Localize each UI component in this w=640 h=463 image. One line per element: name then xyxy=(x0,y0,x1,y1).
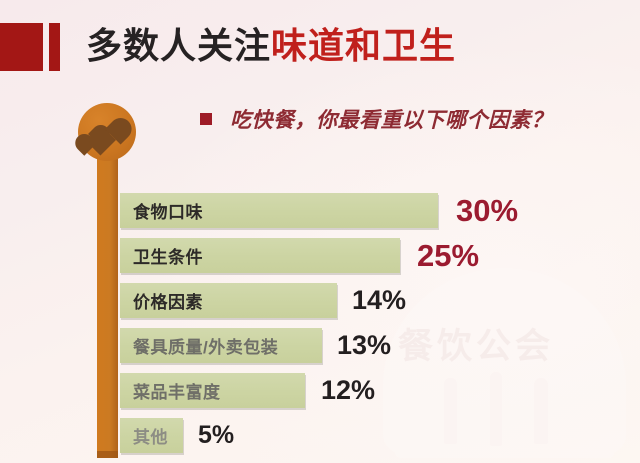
chart-row: 餐具质量/外卖包装 13% xyxy=(120,325,620,370)
chart-row: 卫生条件 25% xyxy=(120,235,620,280)
bar-label: 食物口味 xyxy=(133,198,203,223)
subtitle-text: 吃快餐，你最看重以下哪个因素？ xyxy=(230,104,553,134)
page-title-red: 味道和卫生 xyxy=(271,25,456,66)
lollipop-double-heart-icon xyxy=(78,103,136,161)
bar-value: 25% xyxy=(417,235,479,276)
bar-label: 菜品丰富度 xyxy=(133,378,221,403)
bar-label: 卫生条件 xyxy=(133,243,203,268)
bar: 其他 xyxy=(120,418,183,453)
chart-row: 其他 5% xyxy=(120,415,620,460)
heart-icon-large xyxy=(105,118,127,140)
infographic-canvas: 餐饮公会 多数人关注味道和卫生 吃快餐，你最看重以下哪个因素？ 食物口味 30%… xyxy=(0,0,640,463)
lollipop-stem xyxy=(97,150,118,458)
bar-value: 30% xyxy=(456,190,518,231)
square-bullet-icon xyxy=(200,113,212,125)
bar-value: 13% xyxy=(337,325,391,366)
subtitle: 吃快餐，你最看重以下哪个因素？ xyxy=(200,104,553,134)
header-accent-block xyxy=(0,23,43,71)
page-title-dark: 多数人关注 xyxy=(86,25,271,66)
bar: 价格因素 xyxy=(120,283,337,318)
header-accent-bar xyxy=(49,23,60,71)
bar-label: 价格因素 xyxy=(133,288,203,313)
chart-row: 食物口味 30% xyxy=(120,190,620,235)
bar: 餐具质量/外卖包装 xyxy=(120,328,322,363)
bar: 食物口味 xyxy=(120,193,438,228)
chart-row: 菜品丰富度 12% xyxy=(120,370,620,415)
bar-chart: 食物口味 30% 卫生条件 25% 价格因素 14% 餐具质量/外卖包装 13%… xyxy=(120,190,620,460)
bar-value: 12% xyxy=(321,370,375,411)
bar-value: 14% xyxy=(352,280,406,321)
page-title: 多数人关注味道和卫生 xyxy=(86,22,456,70)
chart-row: 价格因素 14% xyxy=(120,280,620,325)
bar-label: 其他 xyxy=(133,423,168,448)
bar: 菜品丰富度 xyxy=(120,373,305,408)
bar-label: 餐具质量/外卖包装 xyxy=(133,333,278,358)
bar-value: 5% xyxy=(198,415,234,456)
bar: 卫生条件 xyxy=(120,238,400,273)
